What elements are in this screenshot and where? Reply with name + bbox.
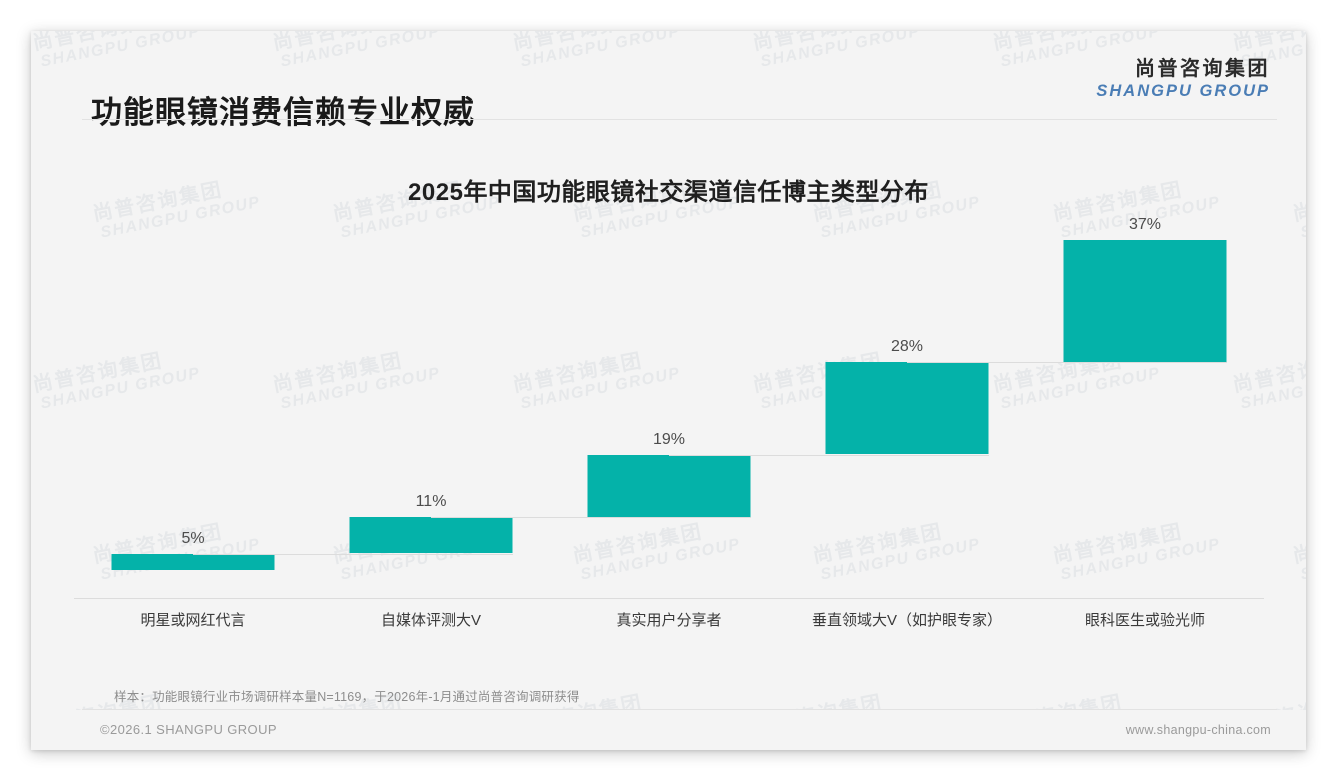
waterfall-column: 28% — [788, 240, 1026, 570]
x-axis-tick-label: 明星或网红代言 — [140, 609, 245, 630]
waterfall-column: 19% — [550, 240, 788, 570]
x-axis-line — [74, 598, 1264, 599]
waterfall-connector — [669, 455, 989, 456]
watermark-text: 尚普咨询集团SHANGPU GROUP — [1291, 514, 1306, 585]
website-link[interactable]: www.shangpu-china.com — [1126, 723, 1271, 737]
waterfall-chart: 5%11%19%28%37% — [74, 240, 1264, 570]
slide-footer: ©2026.1 SHANGPU GROUP www.shangpu-china.… — [31, 710, 1306, 750]
copyright-text: ©2026.1 SHANGPU GROUP — [100, 722, 277, 737]
brand-logo: 尚普咨询集团 SHANGPU GROUP — [1096, 58, 1270, 102]
brand-logo-cn: 尚普咨询集团 — [1096, 58, 1270, 81]
slide-header: 功能眼镜消费信赖专业权威 尚普咨询集团 SHANGPU GROUP — [31, 31, 1306, 119]
waterfall-bar[interactable] — [588, 455, 751, 518]
waterfall-column: 11% — [312, 240, 550, 570]
x-axis-tick-label: 自媒体评测大V — [381, 609, 481, 630]
x-axis-tick-label: 真实用户分享者 — [616, 609, 721, 630]
bar-value-label: 5% — [181, 530, 204, 548]
waterfall-column: 5% — [74, 240, 312, 570]
waterfall-bar[interactable] — [826, 362, 989, 454]
bar-value-label: 37% — [1129, 216, 1161, 234]
waterfall-bar[interactable] — [350, 517, 513, 553]
header-divider — [82, 119, 1277, 120]
waterfall-bar[interactable] — [112, 554, 275, 571]
x-axis-tick-label: 垂直领域大V（如护眼专家） — [812, 609, 1002, 630]
x-axis-tick-label: 眼科医生或验光师 — [1085, 609, 1205, 630]
waterfall-bar[interactable] — [1064, 240, 1227, 362]
source-footnote: 样本：功能眼镜行业市场调研样本量N=1169，于2026年-1月通过尚普咨询调研… — [114, 686, 580, 705]
waterfall-connector — [193, 554, 513, 555]
brand-logo-en: SHANGPU GROUP — [1096, 82, 1270, 102]
page-title: 功能眼镜消费信赖专业权威 — [91, 87, 475, 132]
waterfall-connector — [431, 517, 751, 518]
waterfall-connector — [907, 362, 1227, 363]
bar-value-label: 19% — [653, 431, 685, 449]
waterfall-column: 37% — [1026, 240, 1264, 570]
bar-value-label: 11% — [416, 493, 447, 511]
x-axis-labels: 明星或网红代言自媒体评测大V真实用户分享者垂直领域大V（如护眼专家）眼科医生或验… — [74, 609, 1264, 635]
slide-card: 尚普咨询集团SHANGPU GROUP尚普咨询集团SHANGPU GROUP尚普… — [31, 31, 1306, 750]
bar-value-label: 28% — [891, 338, 923, 356]
chart-title: 2025年中国功能眼镜社交渠道信任博主类型分布 — [31, 172, 1306, 207]
